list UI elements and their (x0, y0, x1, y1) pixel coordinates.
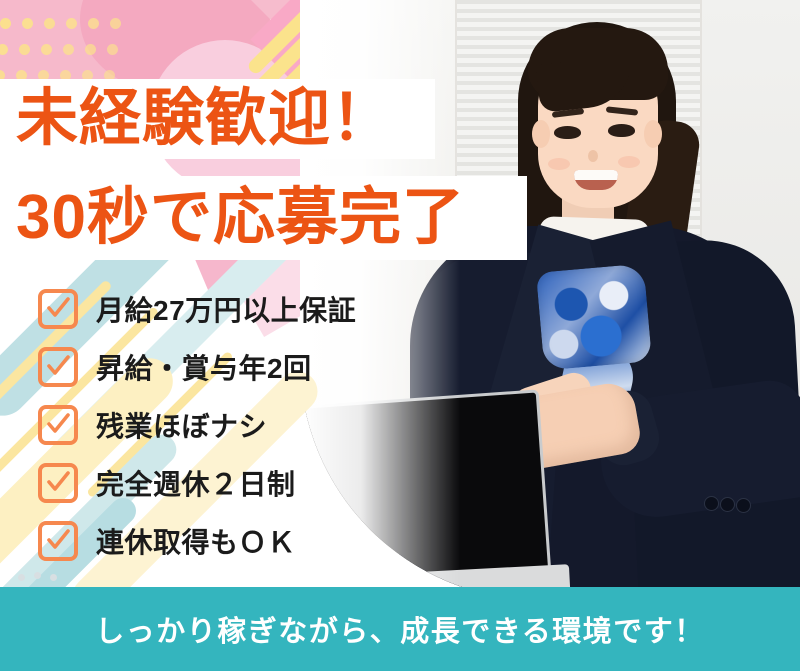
list-item: 昇給・賞与年2回 (38, 338, 458, 396)
list-item: 完全週休２日制 (38, 454, 458, 512)
checkbox-checked-icon (38, 289, 78, 329)
benefits-list: 月給27万円以上保証 昇給・賞与年2回 残業ほぼナシ 完全週休２日制 連休取得も… (38, 280, 458, 570)
headline-line2: 30秒で応募完了 (16, 178, 536, 258)
benefit-label: 連休取得もＯＫ (96, 521, 296, 561)
headline-line1: 未経験歓迎！ (16, 80, 436, 158)
footer-text: しっかり稼ぎながら、成長できる環境です！ (95, 608, 704, 650)
benefit-label: 昇給・賞与年2回 (96, 347, 312, 387)
checkbox-checked-icon (38, 521, 78, 561)
footer-banner: しっかり稼ぎながら、成長できる環境です！ (0, 587, 800, 671)
list-item: 残業ほぼナシ (38, 396, 458, 454)
list-item: 月給27万円以上保証 (38, 280, 458, 338)
checkbox-checked-icon (38, 405, 78, 445)
checkbox-checked-icon (38, 347, 78, 387)
checkbox-checked-icon (38, 463, 78, 503)
list-item: 連休取得もＯＫ (38, 512, 458, 570)
benefit-label: 残業ほぼナシ (96, 405, 267, 445)
recruitment-banner: 未経験歓迎！ 30秒で応募完了 月給27万円以上保証 昇給・賞与年2回 残業ほぼ… (0, 0, 800, 671)
benefit-label: 月給27万円以上保証 (96, 289, 356, 329)
benefit-label: 完全週休２日制 (96, 463, 296, 503)
